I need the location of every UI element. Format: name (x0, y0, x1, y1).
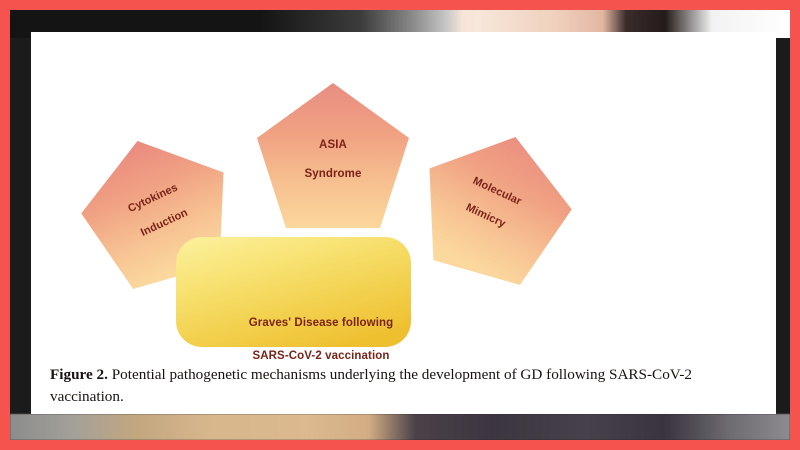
diagram-svg (31, 32, 776, 354)
screenshot-root: ASIA Syndrome Cytokines Induction Molecu… (0, 0, 800, 450)
pentagon-asia-syndrome (257, 83, 409, 228)
photo-backdrop-bottom-strip (10, 414, 790, 440)
figure-caption-text: Potential pathogenetic mechanisms underl… (50, 366, 692, 405)
figure-caption-label: Figure 2. (50, 366, 108, 383)
diagram-canvas: ASIA Syndrome Cytokines Induction Molecu… (31, 32, 776, 354)
figure-panel: ASIA Syndrome Cytokines Induction Molecu… (31, 32, 776, 414)
rounded-rect-graves-disease (176, 237, 411, 347)
figure-caption: Figure 2. Potential pathogenetic mechani… (50, 364, 757, 408)
pentagon-molecular-mimicry (406, 117, 587, 293)
